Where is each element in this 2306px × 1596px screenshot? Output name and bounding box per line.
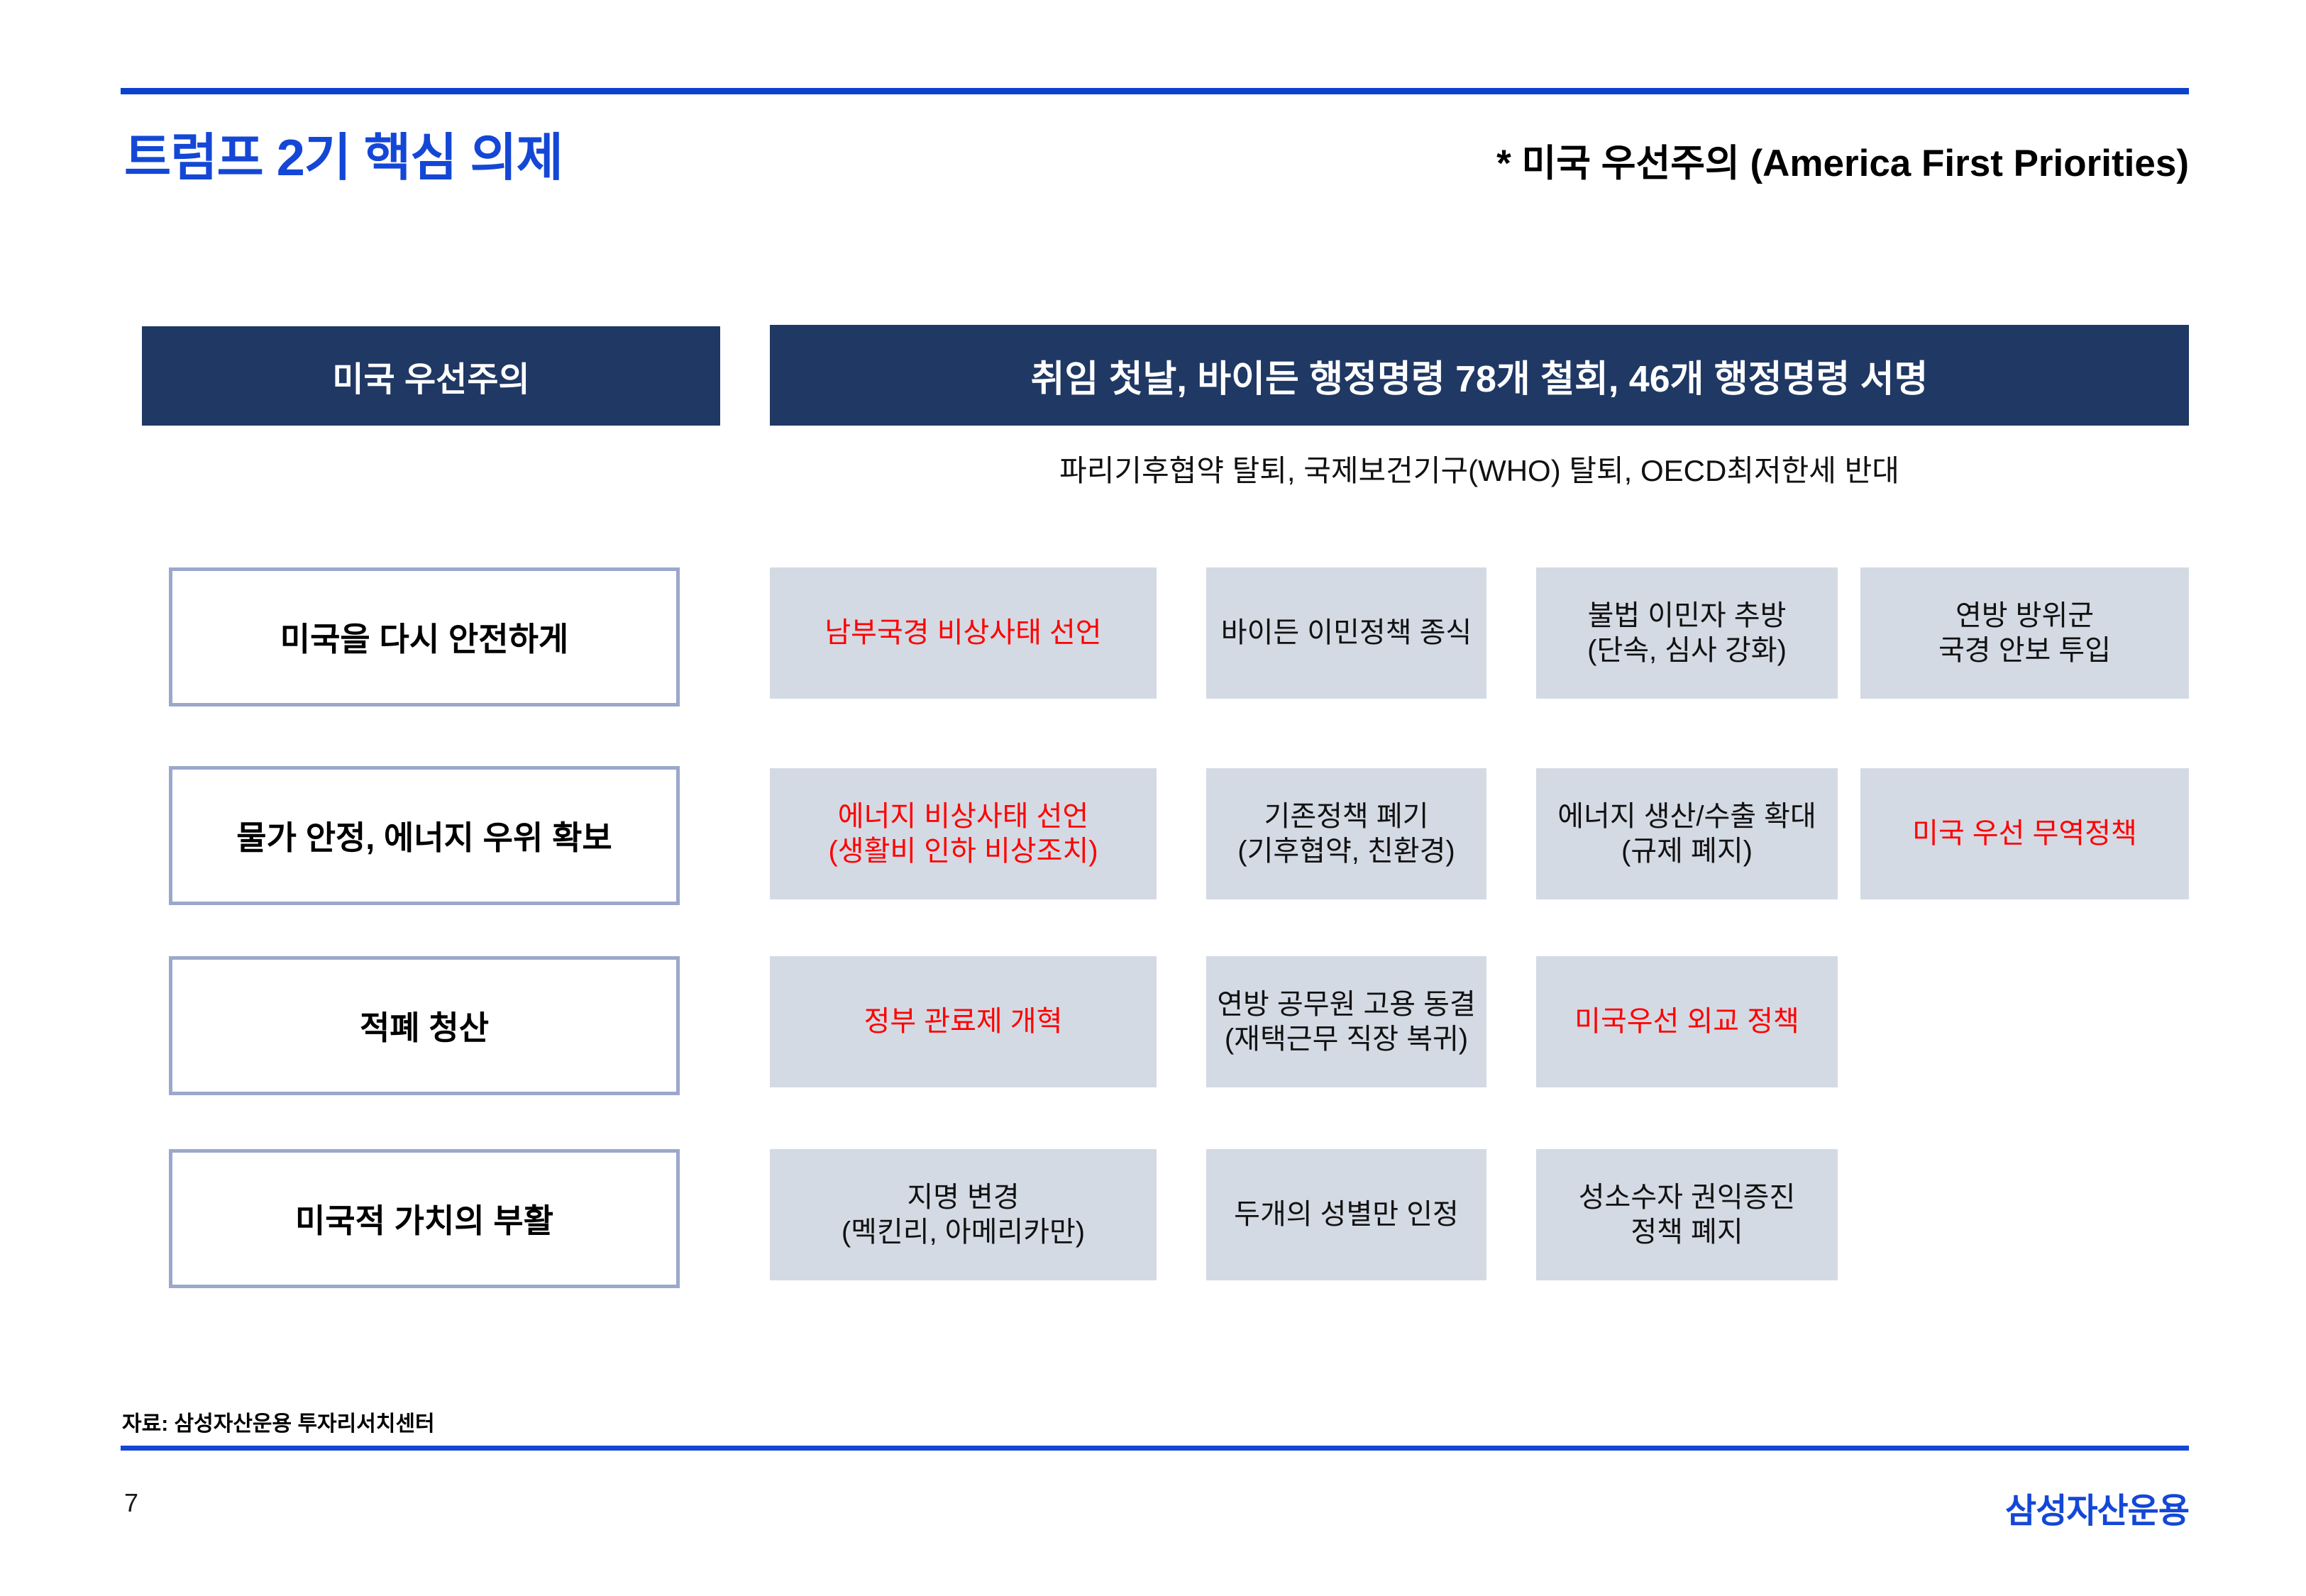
header-bar-left: 미국 우선주의 <box>142 326 720 426</box>
policy-cell-r3c2: 연방 공무원 고용 동결 (재택근무 직장 복귀) <box>1206 956 1486 1087</box>
policy-cell-r1c3: 불법 이민자 추방 (단속, 심사 강화) <box>1536 567 1838 699</box>
policy-cell-line1: 두개의 성별만 인정 <box>1234 1197 1459 1232</box>
policy-cell-line1: 미국 우선 무역정책 <box>1912 816 2137 851</box>
policy-cell-line1: 불법 이민자 추방 <box>1588 599 1787 633</box>
brand-logo: 삼성자산운용 <box>2005 1483 2189 1532</box>
policy-cell-line1: 에너지 생산/수출 확대 <box>1557 799 1816 834</box>
policy-cell-line2: (기후협약, 친환경) <box>1237 834 1455 869</box>
page-title: 트럼프 2기 핵심 의제 <box>124 116 563 190</box>
policy-cell-r2c3: 에너지 생산/수출 확대 (규제 폐지) <box>1536 768 1838 899</box>
policy-cell-line1: 연방 방위군 <box>1955 599 2094 633</box>
policy-cell-line1: 남부국경 비상사태 선언 <box>824 616 1101 650</box>
policy-cell-r2c4: 미국 우선 무역정책 <box>1860 768 2189 899</box>
policy-cell-r1c1: 남부국경 비상사태 선언 <box>770 567 1157 699</box>
bottom-divider-rule <box>121 1446 2189 1451</box>
policy-cell-line1: 성소수자 권익증진 <box>1579 1180 1796 1215</box>
policy-cell-line1: 바이든 이민정책 종식 <box>1221 616 1472 650</box>
policy-cell-r2c2: 기존정책 폐기 (기후협약, 친환경) <box>1206 768 1486 899</box>
category-box-3: 적폐 청산 <box>169 956 680 1095</box>
policy-cell-line1: 정부 관료제 개혁 <box>864 1004 1063 1039</box>
policy-cell-line2: (단속, 심사 강화) <box>1587 633 1787 668</box>
slide-canvas: 트럼프 2기 핵심 의제 * 미국 우선주의 (America First Pr… <box>0 0 2306 1596</box>
header-subnote: 파리기후협약 탈퇴, 국제보건기구(WHO) 탈퇴, OECD최저한세 반대 <box>770 447 2189 490</box>
policy-cell-line2: (생활비 인하 비상조치) <box>828 834 1098 869</box>
category-box-1: 미국을 다시 안전하게 <box>169 567 680 706</box>
category-box-2: 물가 안정, 에너지 우위 확보 <box>169 766 680 905</box>
policy-cell-line1: 기존정책 폐기 <box>1264 799 1429 834</box>
policy-cell-r3c1: 정부 관료제 개혁 <box>770 956 1157 1087</box>
policy-cell-line2: (규제 폐지) <box>1621 834 1753 869</box>
policy-cell-line2: 국경 안보 투입 <box>1938 633 2111 668</box>
policy-cell-line2: (멕킨리, 아메리카만) <box>842 1215 1085 1250</box>
policy-cell-r4c2: 두개의 성별만 인정 <box>1206 1149 1486 1280</box>
policy-cell-line1: 미국우선 외교 정책 <box>1574 1004 1799 1039</box>
header-bar-right: 취임 첫날, 바이든 행정명령 78개 철회, 46개 행정명령 서명 <box>770 325 2189 426</box>
policy-cell-line2: (재택근무 직장 복귀) <box>1225 1022 1468 1057</box>
policy-cell-line1: 에너지 비상사태 선언 <box>838 799 1088 834</box>
policy-cell-line1: 지명 변경 <box>907 1180 1019 1215</box>
page-subtitle: * 미국 우선주의 (America First Priorities) <box>1496 133 2189 187</box>
policy-cell-r2c1: 에너지 비상사태 선언 (생활비 인하 비상조치) <box>770 768 1157 899</box>
policy-cell-r1c4: 연방 방위군 국경 안보 투입 <box>1860 567 2189 699</box>
policy-cell-line1: 연방 공무원 고용 동결 <box>1217 987 1476 1022</box>
top-divider-rule <box>121 88 2189 94</box>
policy-cell-r1c2: 바이든 이민정책 종식 <box>1206 567 1486 699</box>
page-number: 7 <box>124 1488 138 1518</box>
policy-cell-r4c3: 성소수자 권익증진 정책 폐지 <box>1536 1149 1838 1280</box>
policy-cell-line2: 정책 폐지 <box>1631 1215 1743 1250</box>
source-note: 자료: 삼성자산운용 투자리서치센터 <box>122 1406 435 1437</box>
policy-cell-r4c1: 지명 변경 (멕킨리, 아메리카만) <box>770 1149 1157 1280</box>
category-box-4: 미국적 가치의 부활 <box>169 1149 680 1288</box>
policy-cell-r3c3: 미국우선 외교 정책 <box>1536 956 1838 1087</box>
